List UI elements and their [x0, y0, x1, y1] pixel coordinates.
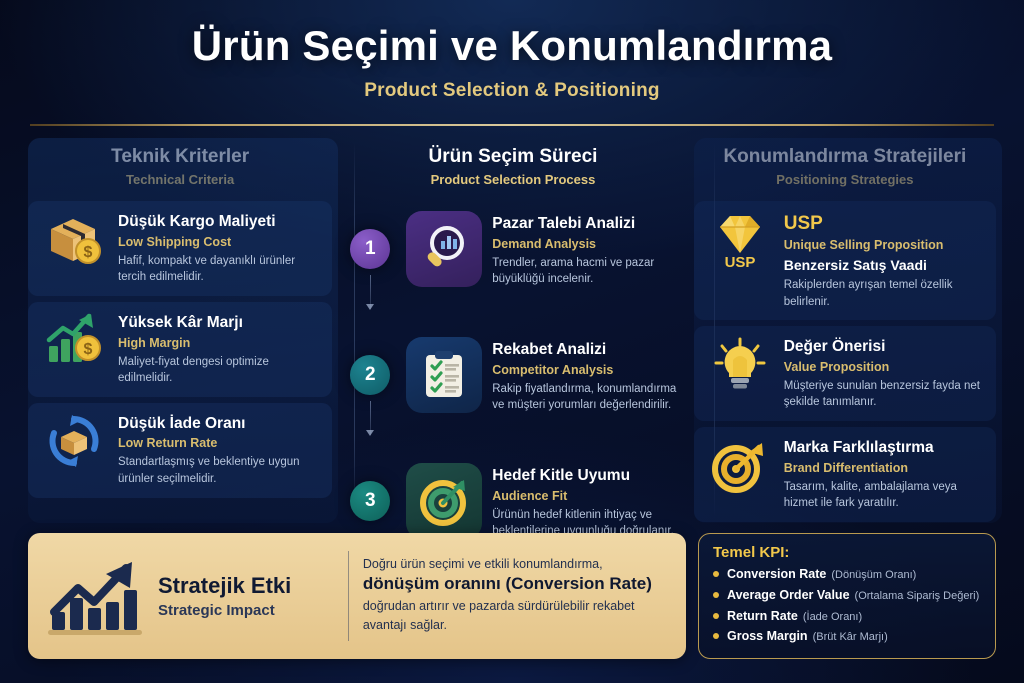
kpi-item-tr: (Dönüşüm Oranı) — [831, 569, 916, 581]
page-subtitle: Product Selection & Positioning — [0, 80, 1024, 102]
kpi-title: Temel KPI: — [713, 544, 981, 561]
svg-text:$: $ — [84, 244, 93, 261]
item-title-tr: USP — [784, 213, 984, 235]
kpi-item-tr: (Ortalama Sipariş Değeri) — [855, 590, 980, 602]
item-title-en: Value Proposition — [784, 360, 984, 374]
kpi-item-en: Gross Margin — [727, 629, 808, 643]
mid-column-header: Ürün Seçim Süreci Product Selection Proc… — [340, 138, 685, 201]
growth-chart-with-coin-icon: $ — [42, 312, 106, 368]
bullet-dot-icon — [713, 613, 719, 619]
impact-text-block: Doğru ürün seçimi ve etkili konumlandırm… — [363, 557, 670, 635]
kpi-list-item[interactable]: Conversion Rate(Dönüşüm Oranı) — [713, 567, 981, 583]
column-positioning-strategies: Konumlandırma Stratejileri Positioning S… — [694, 138, 996, 523]
item-description: Tasarım, kalite, ambalajlama veya hizmet… — [784, 479, 984, 512]
mid-heading-en: Product Selection Process — [344, 172, 681, 187]
bullet-dot-icon — [713, 592, 719, 598]
lightbulb-icon — [708, 336, 772, 394]
item-description: Standartlaşmış ve beklentiye uygun ürünl… — [118, 454, 320, 487]
bar-chart-arrow-up-icon — [44, 554, 144, 638]
right-column-header: Konumlandırma Stratejileri Positioning S… — [694, 138, 996, 201]
step-title-tr: Rekabet Analizi — [492, 341, 679, 360]
kpi-item-en: Conversion Rate — [727, 567, 826, 581]
impact-line-2: dönüşüm oranını (Conversion Rate) — [363, 574, 670, 594]
criteria-item-low-shipping-cost[interactable]: $ Düşük Kargo Maliyeti Low Shipping Cost… — [28, 201, 332, 296]
item-title-tr: Marka Farklılaştırma — [784, 439, 984, 458]
kpi-panel: Temel KPI: Conversion Rate(Dönüşüm Oranı… — [698, 533, 996, 659]
left-column-header: Teknik Kriterler Technical Criteria — [28, 138, 332, 201]
step-connector-line — [370, 275, 371, 309]
mid-heading-tr: Ürün Seçim Süreci — [344, 146, 681, 168]
left-heading-en: Technical Criteria — [32, 172, 328, 187]
item-title-en: Low Return Rate — [118, 436, 320, 450]
page-title: Ürün Seçimi ve Konumlandırma — [0, 22, 1024, 70]
item-title-tr: Değer Önerisi — [784, 338, 984, 357]
process-step-1[interactable]: 1 Pazar Talebi Analizi Demand Analysis — [344, 201, 685, 315]
step-number-badge: 3 — [350, 481, 390, 521]
impact-vertical-divider — [348, 551, 349, 641]
item-title-en: High Margin — [118, 336, 320, 350]
impact-title-en: Strategic Impact — [158, 602, 291, 619]
step-description: Trendler, arama hacmi ve pazar büyüklüğü… — [492, 255, 679, 288]
right-heading-tr: Konumlandırma Stratejileri — [698, 146, 992, 168]
item-title-tr: Yüksek Kâr Marjı — [118, 314, 320, 333]
impact-title-tr: Stratejik Etki — [158, 573, 291, 598]
item-subtitle-tr: Benzersiz Satış Vaadi — [784, 257, 984, 273]
kpi-list-item[interactable]: Gross Margin(Brüt Kâr Marjı) — [713, 629, 981, 645]
item-description: Müşteriye sunulan benzersiz fayda net şe… — [784, 378, 984, 411]
magnifier-bar-chart-icon — [406, 211, 482, 287]
process-step-3[interactable]: 3 Hedef Kitle Uyumu Audience Fit Ürünün … — [344, 453, 685, 546]
bullet-dot-icon — [713, 571, 719, 577]
step-title-en: Demand Analysis — [492, 237, 679, 251]
step-title-en: Competitor Analysis — [492, 363, 679, 377]
item-description: Rakiplerden ayrışan temel özellik belirl… — [784, 277, 984, 310]
content-columns: Teknik Kriterler Technical Criteria $ Dü… — [28, 138, 996, 523]
strategic-impact-panel[interactable]: Stratejik Etki Strategic Impact Doğru ür… — [28, 533, 686, 659]
item-title-en: Low Shipping Cost — [118, 235, 320, 249]
step-number-badge: 2 — [350, 355, 390, 395]
kpi-list: Conversion Rate(Dönüşüm Oranı) Average O… — [713, 567, 981, 645]
strategy-item-brand-differentiation[interactable]: Marka Farklılaştırma Brand Differentiati… — [694, 427, 996, 522]
column-selection-process: Ürün Seçim Süreci Product Selection Proc… — [340, 138, 685, 523]
process-steps: 1 Pazar Talebi Analizi Demand Analysis — [340, 201, 685, 546]
impact-line-3: doğrudan artırır ve pazarda sürdürülebil… — [363, 597, 670, 635]
bottom-section: Stratejik Etki Strategic Impact Doğru ür… — [28, 533, 996, 659]
criteria-item-high-margin[interactable]: $ Yüksek Kâr Marjı High Margin Maliyet-f… — [28, 302, 332, 397]
kpi-list-item[interactable]: Average Order Value(Ortalama Sipariş Değ… — [713, 588, 981, 604]
strategic-impact-left: Stratejik Etki Strategic Impact — [44, 554, 344, 638]
step-rail: 2 — [344, 333, 396, 435]
step-connector-line — [370, 401, 371, 435]
item-title-tr: Düşük İade Oranı — [118, 415, 320, 434]
item-title-en: Brand Differentiation — [784, 461, 984, 475]
step-description: Rakip fiyatlandırma, konumlandırma ve mü… — [492, 381, 679, 414]
page-header: Ürün Seçimi ve Konumlandırma Product Sel… — [0, 0, 1024, 102]
kpi-item-en: Average Order Value — [727, 588, 850, 602]
clipboard-checklist-icon — [406, 337, 482, 413]
left-heading-tr: Teknik Kriterler — [32, 146, 328, 168]
kpi-item-en: Return Rate — [727, 609, 798, 623]
svg-text:$: $ — [84, 341, 93, 358]
item-description: Maliyet-fiyat dengesi optimize edilmelid… — [118, 354, 320, 387]
step-number-badge: 1 — [350, 229, 390, 269]
step-title-en: Audience Fit — [492, 489, 679, 503]
item-description: Hafif, kompakt ve dayanıklı ürünler terc… — [118, 253, 320, 286]
usp-icon-label: USP — [724, 254, 755, 269]
strategy-item-usp[interactable]: USP USP Unique Selling Proposition Benze… — [694, 201, 996, 320]
bullet-dot-icon — [713, 633, 719, 639]
package-with-coin-icon: $ — [42, 211, 106, 267]
right-heading-en: Positioning Strategies — [698, 172, 992, 187]
item-title-tr: Düşük Kargo Maliyeti — [118, 213, 320, 232]
criteria-item-low-return-rate[interactable]: Düşük İade Oranı Low Return Rate Standar… — [28, 403, 332, 498]
step-rail: 3 — [344, 459, 396, 521]
item-title-en: Unique Selling Proposition — [784, 238, 984, 252]
impact-line-1: Doğru ürün seçimi ve etkili konumlandırm… — [363, 557, 670, 571]
gold-target-dart-icon — [708, 437, 772, 495]
step-rail: 1 — [344, 207, 396, 309]
return-box-cycle-icon — [42, 413, 106, 469]
kpi-item-tr: (Brüt Kâr Marjı) — [813, 631, 888, 643]
step-title-tr: Pazar Talebi Analizi — [492, 215, 679, 234]
column-technical-criteria: Teknik Kriterler Technical Criteria $ Dü… — [28, 138, 332, 523]
process-step-2[interactable]: 2 — [344, 327, 685, 441]
step-title-tr: Hedef Kitle Uyumu — [492, 467, 679, 486]
target-dart-icon — [406, 463, 482, 539]
gold-divider — [30, 124, 994, 126]
kpi-item-tr: (İade Oranı) — [803, 611, 862, 623]
strategy-item-value-proposition[interactable]: Değer Önerisi Value Proposition Müşteriy… — [694, 326, 996, 421]
kpi-list-item[interactable]: Return Rate(İade Oranı) — [713, 609, 981, 625]
diamond-usp-icon: USP — [708, 211, 772, 269]
